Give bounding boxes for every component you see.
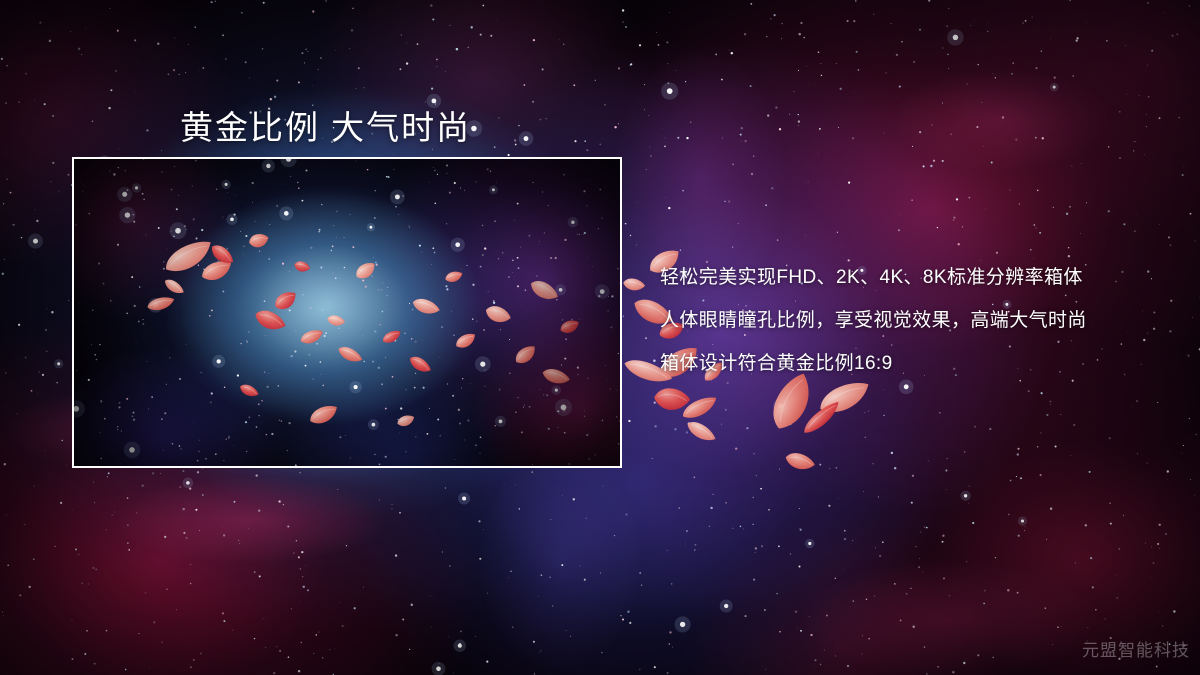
preview-frame[interactable] bbox=[72, 157, 622, 468]
body-line-3: 箱体设计符合黄金比例16:9 bbox=[660, 342, 1180, 385]
body-text-block: 轻松完美实现FHD、2K、4K、8K标准分辨率箱体 人体眼睛瞳孔比例，享受视觉效… bbox=[660, 256, 1180, 385]
watermark: 元盟智能科技 bbox=[1082, 636, 1190, 661]
body-line-1: 轻松完美实现FHD、2K、4K、8K标准分辨率箱体 bbox=[660, 256, 1180, 299]
frame-vignette bbox=[74, 159, 620, 466]
slide-canvas: 黄金比例 大气时尚 轻松完美实现FHD、2K、4K、8K标准分辨率箱体 人体眼睛… bbox=[0, 0, 1200, 675]
body-line-2: 人体眼睛瞳孔比例，享受视觉效果，高端大气时尚 bbox=[660, 299, 1180, 342]
page-title: 黄金比例 大气时尚 bbox=[180, 101, 471, 149]
